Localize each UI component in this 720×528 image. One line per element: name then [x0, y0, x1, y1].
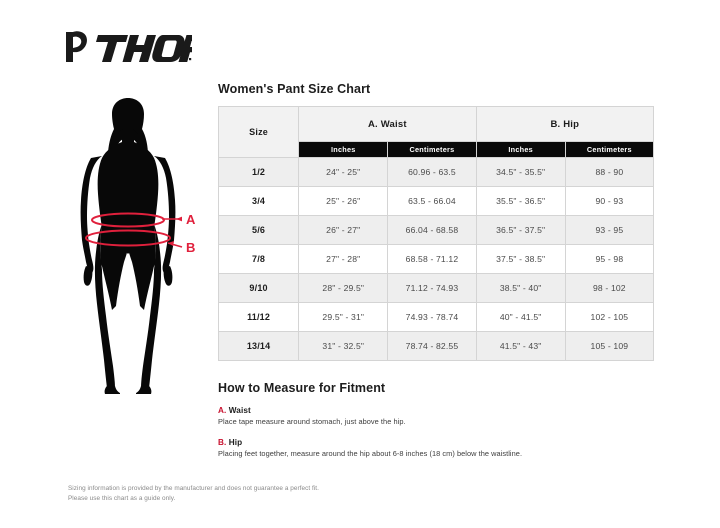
table-row: 13/14 31" - 32.5" 78.74 - 82.55 41.5" - …: [219, 332, 654, 361]
silhouette-svg: A B: [58, 98, 218, 394]
cell-hip-inches: 40" - 41.5": [476, 303, 565, 332]
column-group-hip: B. Hip: [476, 107, 653, 142]
footer-disclaimer: Sizing information is provided by the ma…: [68, 484, 488, 504]
table-row: 9/10 28" - 29.5" 71.12 - 74.93 38.5" - 4…: [219, 274, 654, 303]
measure-description-hip: Placing feet together, measure around th…: [218, 449, 654, 458]
measure-name-waist: Waist: [226, 406, 250, 415]
table-body: 1/2 24" - 25" 60.96 - 63.5 34.5" - 35.5"…: [219, 158, 654, 361]
table-row: 1/2 24" - 25" 60.96 - 63.5 34.5" - 35.5"…: [219, 158, 654, 187]
table-header: Size A. Waist B. Hip Inches Centimeters …: [219, 107, 654, 158]
cell-hip-centimeters: 88 - 90: [565, 158, 653, 187]
cell-waist-centimeters: 68.58 - 71.12: [388, 245, 476, 274]
measure-item-hip: B. Hip Placing feet together, measure ar…: [218, 438, 654, 458]
column-header-waist-inches: Inches: [299, 142, 388, 158]
size-chart-content: Women's Pant Size Chart Size A. Waist B.…: [218, 82, 654, 470]
cell-hip-centimeters: 102 - 105: [565, 303, 653, 332]
cell-hip-centimeters: 95 - 98: [565, 245, 653, 274]
cell-waist-centimeters: 78.74 - 82.55: [388, 332, 476, 361]
size-chart-table: Size A. Waist B. Hip Inches Centimeters …: [218, 106, 654, 361]
measure-description-waist: Place tape measure around stomach, just …: [218, 417, 654, 426]
cell-size: 5/6: [219, 216, 299, 245]
cell-waist-inches: 29.5" - 31": [299, 303, 388, 332]
cell-waist-centimeters: 66.04 - 68.58: [388, 216, 476, 245]
column-header-hip-inches: Inches: [476, 142, 565, 158]
how-to-measure-title: How to Measure for Fitment: [218, 381, 654, 395]
page-title: Women's Pant Size Chart: [218, 82, 654, 96]
cell-size: 1/2: [219, 158, 299, 187]
column-header-hip-centimeters: Centimeters: [565, 142, 653, 158]
cell-size: 11/12: [219, 303, 299, 332]
thor-wordmark: [96, 35, 186, 62]
measure-label-hip: B. Hip: [218, 438, 654, 447]
cell-waist-inches: 27" - 28": [299, 245, 388, 274]
table-row: 7/8 27" - 28" 68.58 - 71.12 37.5" - 38.5…: [219, 245, 654, 274]
cell-hip-inches: 41.5" - 43": [476, 332, 565, 361]
cell-waist-inches: 26" - 27": [299, 216, 388, 245]
table-row: 11/12 29.5" - 31" 74.93 - 78.74 40" - 41…: [219, 303, 654, 332]
cell-waist-centimeters: 71.12 - 74.93: [388, 274, 476, 303]
cell-size: 3/4: [219, 187, 299, 216]
cell-size: 7/8: [219, 245, 299, 274]
table-row: 5/6 26" - 27" 66.04 - 68.58 36.5" - 37.5…: [219, 216, 654, 245]
measure-name-hip: Hip: [226, 438, 242, 447]
cell-hip-inches: 36.5" - 37.5": [476, 216, 565, 245]
cell-waist-inches: 25" - 26": [299, 187, 388, 216]
cell-hip-centimeters: 105 - 109: [565, 332, 653, 361]
disclaimer-line-1: Sizing information is provided by the ma…: [68, 484, 488, 494]
cell-hip-inches: 35.5" - 36.5": [476, 187, 565, 216]
cell-waist-centimeters: 63.5 - 66.04: [388, 187, 476, 216]
cell-waist-inches: 28" - 29.5": [299, 274, 388, 303]
cell-hip-inches: 34.5" - 35.5": [476, 158, 565, 187]
callout-label-a: A: [186, 212, 196, 227]
callout-label-b: B: [186, 240, 195, 255]
cell-hip-centimeters: 93 - 95: [565, 216, 653, 245]
measure-item-waist: A. Waist Place tape measure around stoma…: [218, 406, 654, 426]
cell-hip-centimeters: 98 - 102: [565, 274, 653, 303]
cell-hip-centimeters: 90 - 93: [565, 187, 653, 216]
cell-size: 9/10: [219, 274, 299, 303]
column-header-waist-centimeters: Centimeters: [388, 142, 476, 158]
cell-waist-inches: 31" - 32.5": [299, 332, 388, 361]
cell-waist-centimeters: 74.93 - 78.74: [388, 303, 476, 332]
cell-size: 13/14: [219, 332, 299, 361]
cell-waist-inches: 24" - 25": [299, 158, 388, 187]
thor-logo-svg: [62, 28, 192, 66]
column-group-waist: A. Waist: [299, 107, 476, 142]
column-header-size: Size: [219, 107, 299, 158]
table-header-row-groups: Size A. Waist B. Hip: [219, 107, 654, 142]
disclaimer-line-2: Please use this chart as a guide only.: [68, 494, 488, 504]
table-row: 3/4 25" - 26" 63.5 - 66.04 35.5" - 36.5"…: [219, 187, 654, 216]
thor-brand-logo: [62, 28, 192, 66]
cell-waist-centimeters: 60.96 - 63.5: [388, 158, 476, 187]
how-to-measure-section: How to Measure for Fitment A. Waist Plac…: [218, 381, 654, 458]
cell-hip-inches: 37.5" - 38.5": [476, 245, 565, 274]
measure-label-waist: A. Waist: [218, 406, 654, 415]
cell-hip-inches: 38.5" - 40": [476, 274, 565, 303]
body-silhouette-figure: A B: [58, 98, 218, 394]
